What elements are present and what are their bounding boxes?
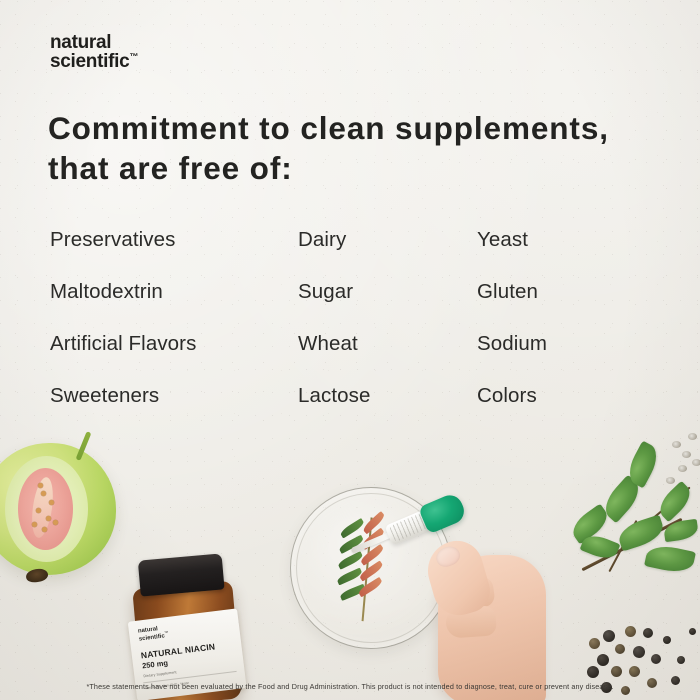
peppercorn [629, 666, 640, 677]
brand-logo-line1: natural [50, 33, 138, 52]
peppercorn [587, 666, 599, 678]
guava-seed [38, 483, 43, 488]
list-item: Maltodextrin [50, 280, 298, 304]
list-item: Sweeteners [50, 384, 298, 408]
basil-leaf [615, 514, 666, 551]
product-photo-band: natural scientific™ NATURAL NIACIN 250 m… [0, 425, 700, 700]
hand-image [430, 521, 570, 700]
peppercorn [643, 628, 653, 638]
free-of-list: Preservatives Dairy Yeast Maltodextrin S… [50, 228, 650, 436]
peppercorn [603, 630, 615, 642]
peppercorn [615, 644, 625, 654]
list-item: Sugar [298, 280, 477, 304]
page-title: Commitment to clean supplements, that ar… [48, 108, 658, 189]
list-item: Gluten [477, 280, 650, 304]
guava-seed [49, 500, 54, 505]
guava-seed [46, 516, 51, 521]
peppercorn [589, 638, 600, 649]
basil-flower [666, 477, 675, 484]
guava-seed [41, 491, 46, 496]
supplement-bottle-image: natural scientific™ NATURAL NIACIN 250 m… [122, 552, 246, 700]
peppercorn [625, 626, 636, 637]
brand-logo: natural scientific™ [50, 33, 138, 72]
peppercorn [597, 654, 609, 666]
brand-logo-line2-text: scientific [50, 51, 129, 72]
list-item: Artificial Flavors [50, 332, 298, 356]
marketing-graphic: natural scientific™ Commitment to clean … [0, 0, 700, 700]
basil-flower [672, 441, 681, 448]
list-item: Sodium [477, 332, 650, 356]
peppercorn [633, 646, 645, 658]
basil-flower [692, 459, 700, 466]
list-item: Dairy [298, 228, 477, 252]
list-item: Colors [477, 384, 650, 408]
bottle-product-dose: 250 mg [142, 658, 169, 670]
peppercorn [611, 666, 622, 677]
bottle-cap [138, 553, 225, 596]
bottle-product-name: NATURAL NIACIN [140, 641, 215, 660]
peppercorn [689, 628, 696, 635]
guava-seed [36, 508, 41, 513]
guava-seed [53, 520, 58, 525]
basil-leaf [663, 519, 699, 543]
list-item: Preservatives [50, 228, 298, 252]
bottle-label-brand: natural scientific™ [138, 625, 170, 643]
basil-flower [682, 451, 691, 458]
list-item: Wheat [298, 332, 477, 356]
peppercorn [677, 656, 685, 664]
fda-disclaimer: *These statements have not been evaluate… [0, 682, 700, 691]
brand-logo-line2: scientific™ [50, 52, 138, 71]
basil-flower [678, 465, 687, 472]
peppercorn [651, 654, 661, 664]
bottle-product-subtitle: Dietary Supplement [143, 670, 177, 678]
basil-leaf [644, 542, 696, 575]
peppercorn [663, 636, 671, 644]
basil-flower [688, 433, 697, 440]
bottle-label-trademark: ™ [164, 630, 169, 635]
guava-image [0, 443, 116, 575]
list-item: Yeast [477, 228, 650, 252]
bottle-label-brand-line2-text: scientific [139, 634, 166, 643]
guava-seed [32, 522, 37, 527]
trademark-symbol: ™ [129, 52, 138, 62]
list-item: Lactose [298, 384, 477, 408]
